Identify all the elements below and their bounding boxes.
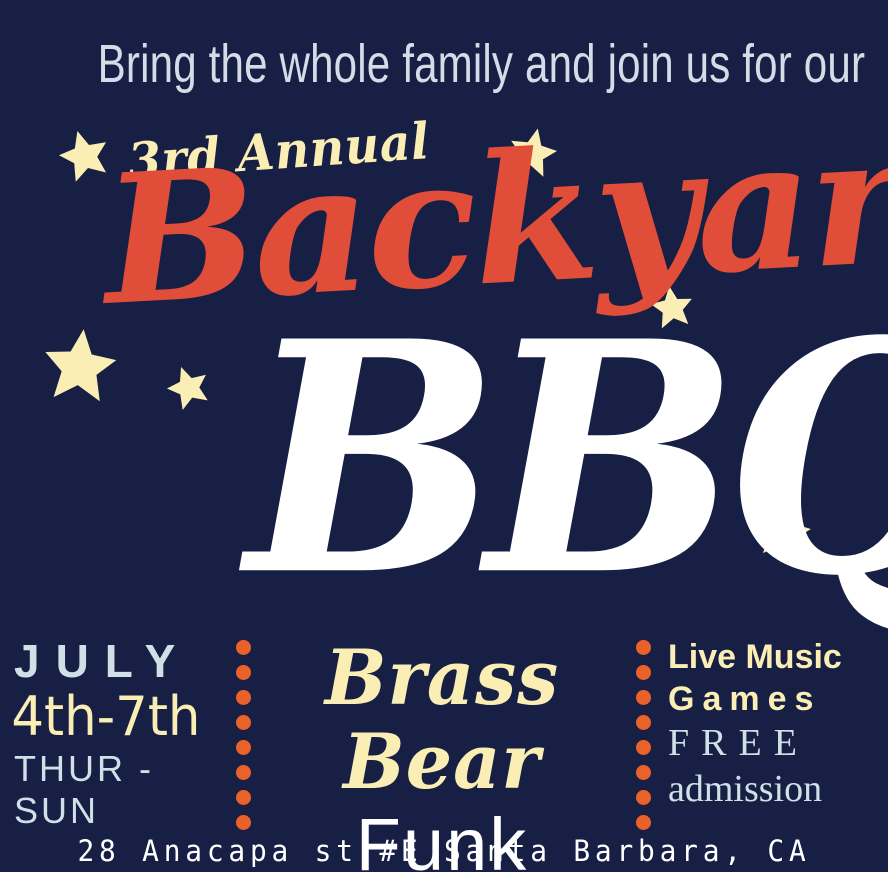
divider-dot <box>636 815 651 830</box>
flyer-tagline: Bring the whole family and join us for o… <box>98 34 791 94</box>
star-small-left <box>160 358 216 414</box>
divider-dot <box>636 765 651 780</box>
dot-divider-right <box>636 640 652 830</box>
divider-dot <box>636 665 651 680</box>
extra-admission: admission <box>668 766 888 812</box>
extras-column: Live Music Games FREE admission <box>668 636 888 812</box>
extra-free: FREE <box>668 720 888 766</box>
extra-live-music: Live Music <box>668 636 888 678</box>
divider-dot <box>636 690 651 705</box>
divider-dot <box>636 715 651 730</box>
band-name: Brass Bear <box>269 636 615 804</box>
divider-dot <box>636 640 651 655</box>
dot-divider-left <box>236 640 252 830</box>
event-days: 4th-7th <box>0 686 215 748</box>
date-column: JULY 4th-7th THUR - SUN <box>0 636 226 832</box>
event-month: JULY <box>0 636 226 686</box>
divider-dot <box>636 790 651 805</box>
divider-dot <box>236 715 251 730</box>
divider-dot <box>236 665 251 680</box>
event-title-line2: BBQ <box>246 300 888 618</box>
divider-dot <box>236 740 251 755</box>
divider-dot <box>236 690 251 705</box>
event-weekdays: THUR - SUN <box>0 748 226 832</box>
divider-dot <box>236 765 251 780</box>
divider-dot <box>236 790 251 805</box>
venue-address: 28 Anacapa st #E Santa Barbara, CA <box>18 834 870 868</box>
divider-dot <box>236 640 251 655</box>
event-details-strip: JULY 4th-7th THUR - SUN Brass Bear Funk … <box>0 636 888 830</box>
divider-dot <box>636 740 651 755</box>
bbq-event-flyer: Bring the whole family and join us for o… <box>0 0 888 872</box>
extra-games: Games <box>668 678 888 720</box>
divider-dot <box>236 815 251 830</box>
